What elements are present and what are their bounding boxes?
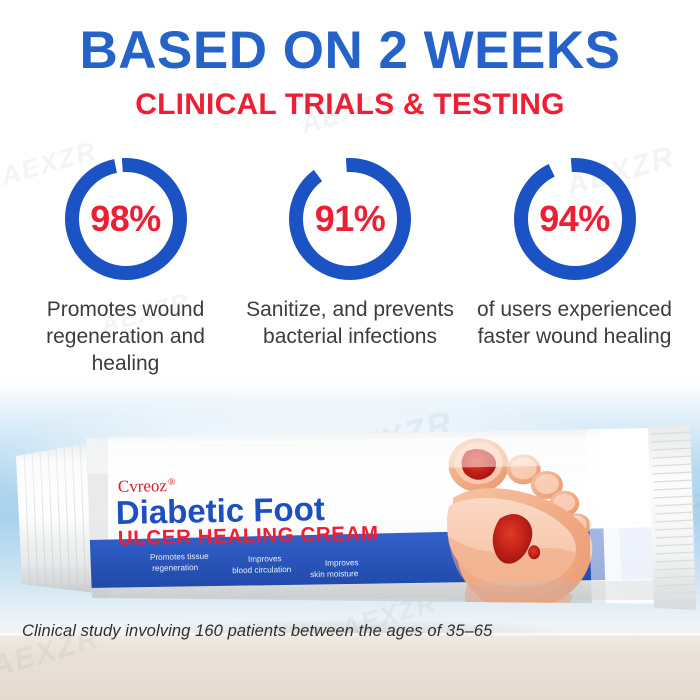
stat-caption: Promotes wound regeneration and healing: [18, 297, 233, 378]
tube-crimp: [648, 424, 698, 610]
svg-text:skin moisture: skin moisture: [310, 569, 359, 579]
stat-value: 98%: [62, 155, 190, 283]
stat-value: 94%: [511, 155, 639, 283]
progress-ring: 94%: [511, 155, 639, 283]
page-subtitle: CLINICAL TRIALS & TESTING: [0, 90, 700, 120]
progress-ring: 98%: [62, 155, 190, 283]
svg-text:Promotes tissue: Promotes tissue: [150, 552, 209, 562]
stat-item: 98% Promotes wound regeneration and heal…: [18, 155, 233, 378]
product-tube: Cvreoz ® Diabetic Foot ULCER HEALING CRE…: [0, 398, 700, 648]
stats-row: 98% Promotes wound regeneration and heal…: [0, 155, 700, 378]
tube-body: Cvreoz ® Diabetic Foot ULCER HEALING CRE…: [86, 424, 686, 629]
svg-text:Improves: Improves: [248, 554, 282, 564]
progress-ring: 91%: [286, 155, 414, 283]
stat-caption: of users experienced faster wound healin…: [467, 297, 682, 351]
page-title: BASED ON 2 WEEKS: [0, 24, 700, 77]
svg-text:Improves: Improves: [325, 558, 359, 568]
svg-text:blood circulation: blood circulation: [232, 565, 292, 575]
footer-note: Clinical study involving 160 patients be…: [22, 622, 492, 641]
stat-item: 91% Sanitize, and prevents bacterial inf…: [243, 155, 458, 378]
stat-value: 91%: [286, 155, 414, 283]
svg-text:regeneration: regeneration: [152, 563, 199, 573]
stat-item: 94% of users experienced faster wound he…: [467, 155, 682, 378]
stat-caption: Sanitize, and prevents bacterial infecti…: [243, 297, 458, 351]
promo-image: AEXZRAEXZRAEXZRAEXZRAEXZRAEXZRAEXZRAEXZR…: [0, 0, 700, 700]
brand-trademark: ®: [168, 477, 176, 488]
